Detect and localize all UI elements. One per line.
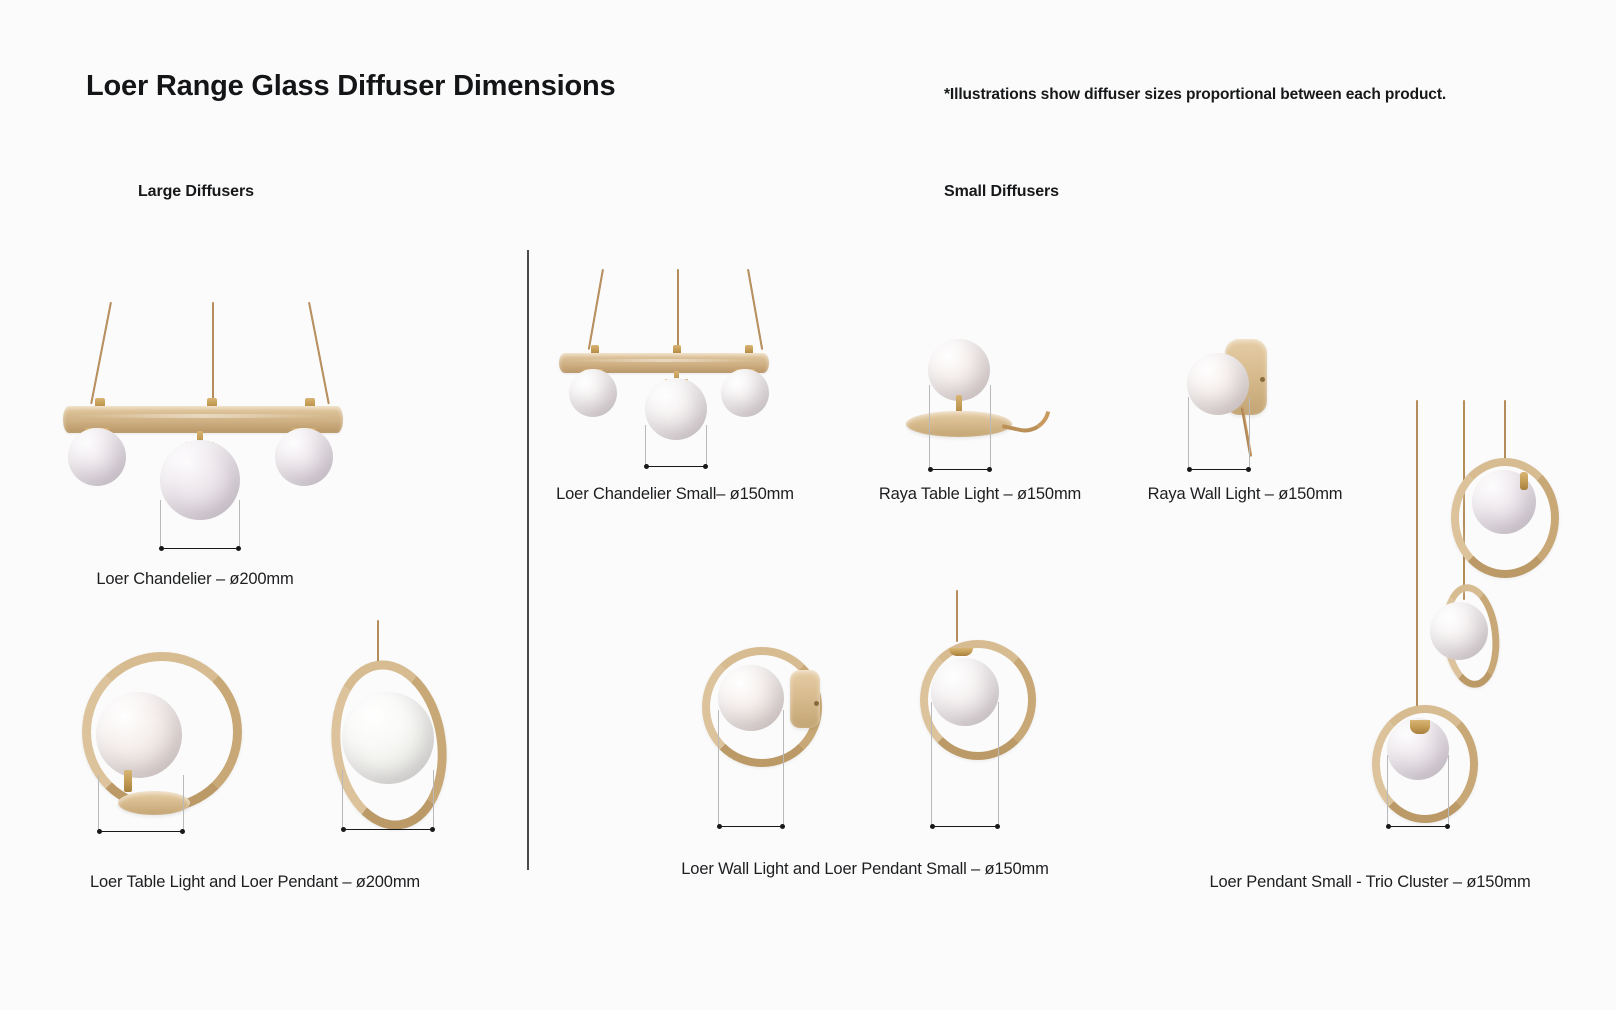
cable-icon (677, 269, 679, 349)
product-caption-loer-pendant-small-trio-cluster: Loer Pendant Small - Trio Cluster – ø150… (1120, 873, 1616, 892)
cable-icon (1504, 400, 1506, 462)
product-caption-loer-wall-light-and-pendant-small: Loer Wall Light and Loer Pendant Small –… (590, 860, 1140, 879)
product-illustration-loer-chandelier-small (555, 265, 795, 480)
cable-icon (588, 269, 605, 350)
dimension-line (342, 770, 434, 830)
cable-icon (1416, 400, 1418, 710)
dimension-line (929, 385, 991, 470)
product-illustration-loer-pendant-small (905, 590, 1075, 835)
cable-icon (308, 302, 330, 405)
page-title: Loer Range Glass Diffuser Dimensions (86, 70, 615, 103)
cable-icon (90, 302, 112, 405)
cable-icon (377, 620, 379, 664)
product-illustration-raya-wall-light (1175, 335, 1335, 480)
dimension-line (645, 425, 707, 467)
section-header-small-diffusers: Small Diffusers (944, 183, 1059, 201)
dimension-line (160, 500, 240, 549)
cable-icon (956, 590, 958, 642)
section-divider (527, 250, 529, 870)
glass-diffuser-globe (275, 428, 333, 486)
glass-diffuser-globe (569, 369, 617, 417)
product-caption-loer-chandelier-small: Loer Chandelier Small– ø150mm (500, 485, 850, 504)
product-illustration-loer-wall-light-small (700, 645, 870, 835)
product-caption-loer-chandelier: Loer Chandelier – ø200mm (0, 570, 390, 589)
product-illustration-loer-pendant-small-trio-cluster (1320, 380, 1580, 850)
wall-mount-screw-icon (814, 701, 819, 706)
lamp-fitting-icon (1410, 720, 1430, 734)
dimension-line (98, 775, 184, 832)
glass-diffuser-globe (68, 428, 126, 486)
cable-icon (747, 269, 764, 350)
glass-diffuser-globe (721, 369, 769, 417)
cable-icon (212, 302, 214, 402)
product-illustration-loer-chandelier (55, 300, 385, 580)
dimension-line (931, 702, 999, 827)
section-header-large-diffusers: Large Diffusers (138, 183, 254, 201)
dimension-line (1188, 397, 1250, 470)
glass-diffuser-globe (96, 692, 182, 778)
product-caption-raya-table-light: Raya Table Light – ø150mm (830, 485, 1130, 504)
dimension-line (1387, 755, 1449, 827)
product-illustration-raya-table-light (900, 335, 1060, 480)
diffuser-dimensions-page: Loer Range Glass Diffuser Dimensions *Il… (0, 0, 1616, 1010)
product-illustration-loer-pendant (320, 620, 500, 850)
wall-mount-screw-icon (1260, 377, 1265, 382)
glass-diffuser-globe (1430, 602, 1488, 660)
dimension-line (718, 710, 784, 827)
lamp-fitting-icon (1520, 472, 1528, 490)
wooden-wall-mount (790, 670, 820, 728)
proportional-note: *Illustrations show diffuser sizes propo… (944, 86, 1446, 104)
product-caption-loer-table-light-and-pendant: Loer Table Light and Loer Pendant – ø200… (0, 873, 510, 892)
power-cable-icon (1002, 403, 1050, 438)
product-illustration-loer-table-light (80, 650, 260, 850)
